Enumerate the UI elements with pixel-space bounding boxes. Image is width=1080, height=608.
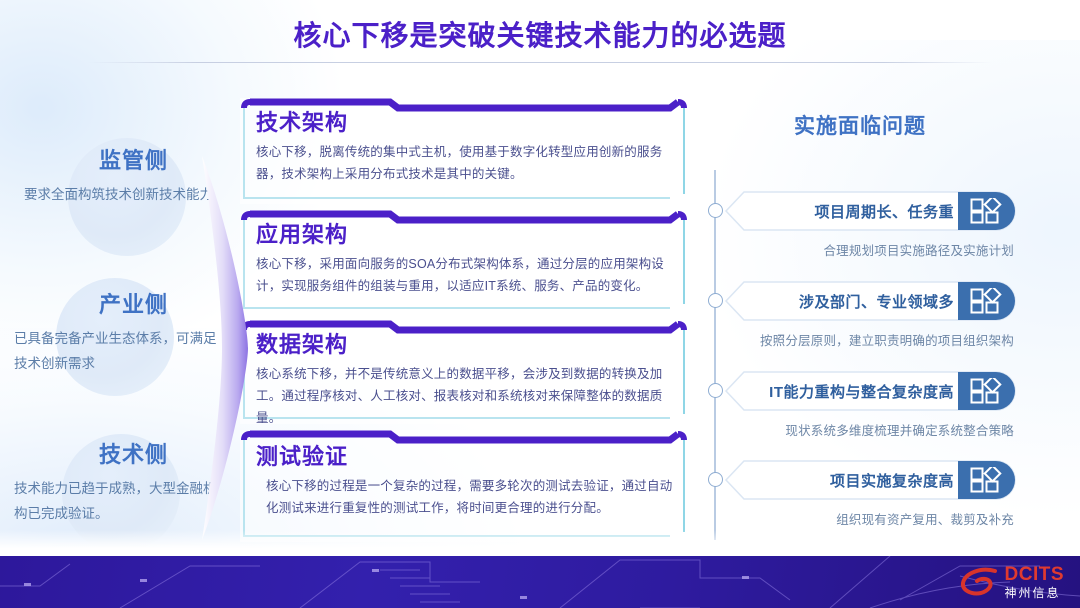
card-description: 核心下移，采用面向服务的SOA分布式架构体系，通过分层的应用架构设计，实现服务组… (256, 253, 678, 297)
issue-row: IT能力重构与整合复杂度高 (724, 371, 1024, 411)
left-item-industry: 产业侧 已具备完备产业生态体系，可满足技术创新需求 (10, 290, 225, 376)
logo-cn: 神州信息 (1005, 587, 1061, 599)
card-description: 核心系统下移，并不是传统意义上的数据平移，会涉及到数据的转换及加工。通过程序核对… (256, 363, 678, 429)
issue-subtext: 组织现有资产复用、裁剪及补充 (724, 509, 1014, 528)
logo-en: DCITS (1005, 565, 1065, 584)
left-item-label: 技术侧 (10, 440, 225, 470)
card-technical-architecture[interactable]: 技术架构 核心下移，脱离传统的集中式主机，使用基于数字化转型应用创新的服务器，技… (240, 98, 692, 204)
left-item-desc: 要求全面构筑技术创新技术能力 (10, 182, 225, 207)
footer-bar: DCITS 神州信息 (0, 556, 1080, 608)
page-title: 核心下移是突破关键技术能力的必选题 (293, 14, 786, 54)
left-item-technology: 技术侧 技术能力已趋于成熟，大型金融机构已完成验证。 (10, 440, 225, 526)
issue-subtext: 按照分层原则，建立职责明确的项目组织架构 (724, 330, 1014, 349)
company-logo: DCITS 神州信息 (959, 562, 1065, 602)
card-description: 核心下移的过程是一个复杂的过程，需要多轮次的测试去验证，通过自动化测试来进行重复… (256, 475, 678, 519)
issue-subtext: 合理规划项目实施路径及实施计划 (724, 240, 1014, 259)
slide-canvas: 核心下移是突破关键技术能力的必选题 监管侧 要求全面构筑技术创新技术能力 产业侧… (0, 0, 1080, 608)
left-column: 监管侧 要求全面构筑技术创新技术能力 产业侧 已具备完备产业生态体系，可满足技术… (10, 130, 225, 550)
timeline-node (708, 293, 723, 308)
card-application-architecture[interactable]: 应用架构 核心下移，采用面向服务的SOA分布式架构体系，通过分层的应用架构设计，… (240, 210, 692, 314)
left-item-label: 产业侧 (10, 290, 225, 320)
right-pointing-arrow-icon (196, 148, 252, 548)
card-title: 应用架构 (256, 220, 678, 250)
issue-pill-project-cycle[interactable]: 项目周期长、任务重 (724, 191, 1016, 231)
card-test-verification[interactable]: 测试验证 核心下移的过程是一个复杂的过程，需要多轮次的测试去验证，通过自动化测试… (240, 430, 692, 542)
card-description: 核心下移，脱离传统的集中式主机，使用基于数字化转型应用创新的服务器，技术架构上采… (256, 141, 678, 185)
left-item-desc: 技术能力已趋于成熟，大型金融机构已完成验证。 (10, 476, 225, 526)
card-title: 测试验证 (256, 442, 678, 472)
circuit-pattern (0, 556, 1080, 608)
right-panel: 实施面临问题 项目周期长、任务重 (700, 110, 1040, 540)
squares-diamond-icon (958, 191, 1016, 231)
card-title: 技术架构 (256, 108, 678, 138)
card-title: 数据架构 (256, 330, 678, 360)
issue-pill-it-rebuild[interactable]: IT能力重构与整合复杂度高 (724, 371, 1016, 411)
left-item-label: 监管侧 (10, 146, 225, 176)
squares-diamond-icon (958, 281, 1016, 321)
issue-row: 涉及部门、专业领域多 (724, 281, 1024, 321)
timeline-node (708, 203, 723, 218)
footer-fade (0, 530, 1080, 556)
issue-pill-departments[interactable]: 涉及部门、专业领域多 (724, 281, 1016, 321)
issue-row: 项目实施复杂度高 (724, 460, 1024, 500)
left-item-regulatory: 监管侧 要求全面构筑技术创新技术能力 (10, 146, 225, 207)
architecture-cards: 技术架构 核心下移，脱离传统的集中式主机，使用基于数字化转型应用创新的服务器，技… (240, 98, 692, 548)
logo-text: DCITS 神州信息 (1005, 565, 1065, 599)
slide-title-area: 核心下移是突破关键技术能力的必选题 (0, 10, 1080, 58)
logo-swirl-icon (959, 565, 999, 599)
issue-row: 项目周期长、任务重 (724, 191, 1024, 231)
card-data-architecture[interactable]: 数据架构 核心系统下移，并不是传统意义上的数据平移，会涉及到数据的转换及加工。通… (240, 320, 692, 424)
title-divider (88, 62, 992, 63)
timeline-node (708, 472, 723, 487)
squares-diamond-icon (958, 460, 1016, 500)
timeline-node (708, 383, 723, 398)
issue-pill-implementation[interactable]: 项目实施复杂度高 (724, 460, 1016, 500)
issue-label: 涉及部门、专业领域多 (799, 291, 954, 312)
issue-label: 项目实施复杂度高 (830, 470, 954, 491)
right-panel-heading: 实施面临问题 (700, 110, 1020, 140)
issue-label: 项目周期长、任务重 (814, 201, 954, 222)
left-item-desc: 已具备完备产业生态体系，可满足技术创新需求 (10, 326, 225, 376)
squares-diamond-icon (958, 371, 1016, 411)
issue-subtext: 现状系统多维度梳理并确定系统整合策略 (724, 420, 1014, 439)
issue-label: IT能力重构与整合复杂度高 (769, 381, 954, 402)
